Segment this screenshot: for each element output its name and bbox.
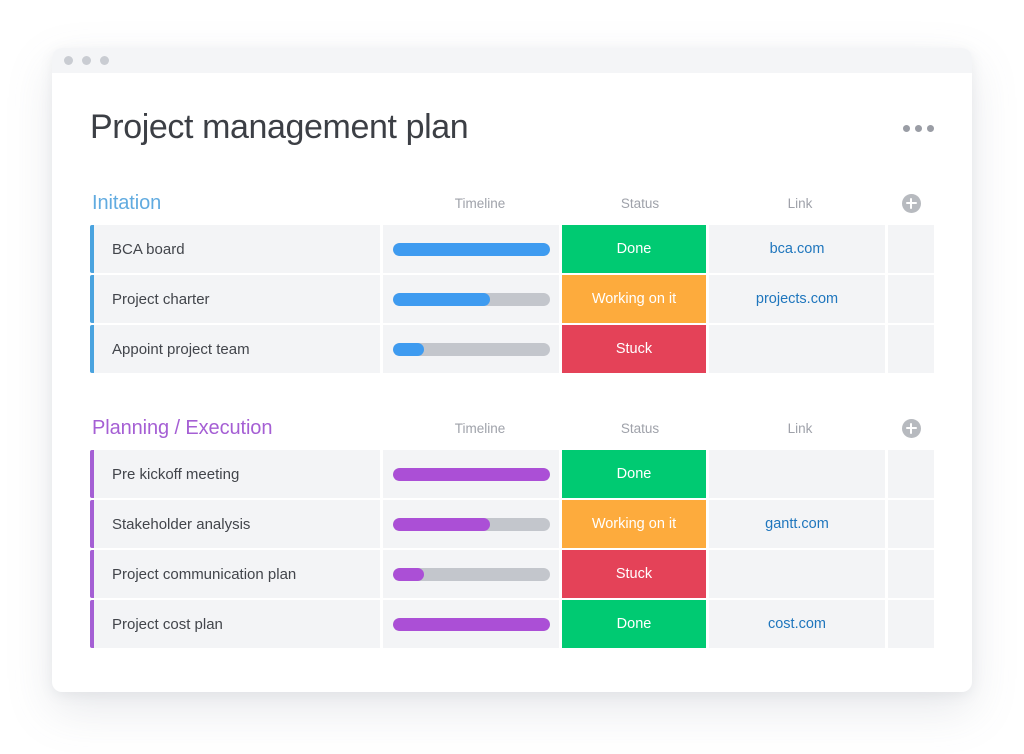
link-cell[interactable]: bca.com xyxy=(709,225,885,273)
progress-bar-fill xyxy=(393,243,550,256)
minimize-dot-icon[interactable] xyxy=(82,56,91,65)
status-cell[interactable]: Done xyxy=(562,600,706,648)
status-badge[interactable]: Done xyxy=(562,225,706,273)
timeline-cell[interactable] xyxy=(383,450,559,498)
app-window: Project management plan InitationTimelin… xyxy=(52,48,972,692)
add-column-cell xyxy=(888,419,934,438)
timeline-cell[interactable] xyxy=(383,275,559,323)
progress-bar xyxy=(393,343,550,356)
timeline-cell[interactable] xyxy=(383,325,559,373)
task-name-cell[interactable]: Appoint project team xyxy=(94,325,380,373)
link-cell[interactable]: projects.com xyxy=(709,275,885,323)
column-header-timeline: Timeline xyxy=(392,421,568,436)
add-column-cell xyxy=(888,194,934,213)
status-cell[interactable]: Working on it xyxy=(562,500,706,548)
board-content: Project management plan InitationTimelin… xyxy=(52,73,972,648)
status-cell[interactable]: Stuck xyxy=(562,550,706,598)
task-name-cell[interactable]: Pre kickoff meeting xyxy=(94,450,380,498)
link-cell[interactable] xyxy=(709,325,885,373)
group-title[interactable]: Initation xyxy=(92,192,161,215)
link-text[interactable]: cost.com xyxy=(768,616,826,632)
progress-bar-fill xyxy=(393,568,424,581)
close-dot-icon[interactable] xyxy=(64,56,73,65)
plus-circle-icon[interactable] xyxy=(902,194,921,213)
link-cell[interactable]: gantt.com xyxy=(709,500,885,548)
row-extra-cell[interactable] xyxy=(888,600,934,648)
timeline-cell[interactable] xyxy=(383,550,559,598)
task-name-cell[interactable]: BCA board xyxy=(94,225,380,273)
group-title[interactable]: Planning / Execution xyxy=(92,417,272,440)
link-text[interactable]: bca.com xyxy=(770,241,825,257)
progress-bar xyxy=(393,243,550,256)
row-extra-cell[interactable] xyxy=(888,450,934,498)
table-row[interactable]: Project charterWorking on itprojects.com xyxy=(90,275,934,323)
board-group: InitationTimelineStatusLinkBCA boardDone… xyxy=(90,188,934,373)
progress-bar-fill xyxy=(393,518,490,531)
row-extra-cell[interactable] xyxy=(888,500,934,548)
status-cell[interactable]: Done xyxy=(562,225,706,273)
task-name-cell[interactable]: Project communication plan xyxy=(94,550,380,598)
plus-circle-icon[interactable] xyxy=(902,419,921,438)
group-header: Planning / ExecutionTimelineStatusLink xyxy=(90,413,934,443)
table-row[interactable]: Stakeholder analysisWorking on itgantt.c… xyxy=(90,500,934,548)
status-badge[interactable]: Stuck xyxy=(562,550,706,598)
progress-bar-fill xyxy=(393,618,550,631)
board-groups: InitationTimelineStatusLinkBCA boardDone… xyxy=(90,188,934,648)
status-badge[interactable]: Working on it xyxy=(562,275,706,323)
page-header: Project management plan xyxy=(90,109,934,146)
status-badge[interactable]: Done xyxy=(562,450,706,498)
table-row[interactable]: Project cost planDonecost.com xyxy=(90,600,934,648)
link-cell[interactable]: cost.com xyxy=(709,600,885,648)
progress-bar xyxy=(393,568,550,581)
table-row[interactable]: Project communication planStuck xyxy=(90,550,934,598)
status-cell[interactable]: Working on it xyxy=(562,275,706,323)
column-header-link: Link xyxy=(712,196,888,211)
task-name-cell[interactable]: Project charter xyxy=(94,275,380,323)
column-header-status: Status xyxy=(568,421,712,436)
row-extra-cell[interactable] xyxy=(888,225,934,273)
status-badge[interactable]: Working on it xyxy=(562,500,706,548)
status-badge[interactable]: Stuck xyxy=(562,325,706,373)
column-headers: TimelineStatusLink xyxy=(392,194,934,213)
column-header-status: Status xyxy=(568,196,712,211)
kebab-menu-icon[interactable] xyxy=(903,109,934,132)
row-extra-cell[interactable] xyxy=(888,325,934,373)
status-cell[interactable]: Done xyxy=(562,450,706,498)
timeline-cell[interactable] xyxy=(383,600,559,648)
window-titlebar xyxy=(52,48,972,73)
timeline-cell[interactable] xyxy=(383,500,559,548)
progress-bar xyxy=(393,518,550,531)
task-name-cell[interactable]: Project cost plan xyxy=(94,600,380,648)
board-group: Planning / ExecutionTimelineStatusLinkPr… xyxy=(90,413,934,648)
status-cell[interactable]: Stuck xyxy=(562,325,706,373)
column-header-timeline: Timeline xyxy=(392,196,568,211)
group-rows: BCA boardDonebca.comProject charterWorki… xyxy=(90,225,934,373)
progress-bar xyxy=(393,618,550,631)
timeline-cell[interactable] xyxy=(383,225,559,273)
table-row[interactable]: BCA boardDonebca.com xyxy=(90,225,934,273)
progress-bar-fill xyxy=(393,343,424,356)
row-extra-cell[interactable] xyxy=(888,275,934,323)
progress-bar-fill xyxy=(393,293,490,306)
link-text[interactable]: projects.com xyxy=(756,291,838,307)
progress-bar xyxy=(393,468,550,481)
column-header-link: Link xyxy=(712,421,888,436)
progress-bar-fill xyxy=(393,468,550,481)
link-cell[interactable] xyxy=(709,550,885,598)
task-name-cell[interactable]: Stakeholder analysis xyxy=(94,500,380,548)
group-header: InitationTimelineStatusLink xyxy=(90,188,934,218)
maximize-dot-icon[interactable] xyxy=(100,56,109,65)
status-badge[interactable]: Done xyxy=(562,600,706,648)
row-extra-cell[interactable] xyxy=(888,550,934,598)
progress-bar xyxy=(393,293,550,306)
screen: Project management plan InitationTimelin… xyxy=(0,0,1024,754)
link-cell[interactable] xyxy=(709,450,885,498)
link-text[interactable]: gantt.com xyxy=(765,516,829,532)
table-row[interactable]: Appoint project teamStuck xyxy=(90,325,934,373)
page-title: Project management plan xyxy=(90,109,468,146)
table-row[interactable]: Pre kickoff meetingDone xyxy=(90,450,934,498)
column-headers: TimelineStatusLink xyxy=(392,419,934,438)
group-rows: Pre kickoff meetingDoneStakeholder analy… xyxy=(90,450,934,648)
